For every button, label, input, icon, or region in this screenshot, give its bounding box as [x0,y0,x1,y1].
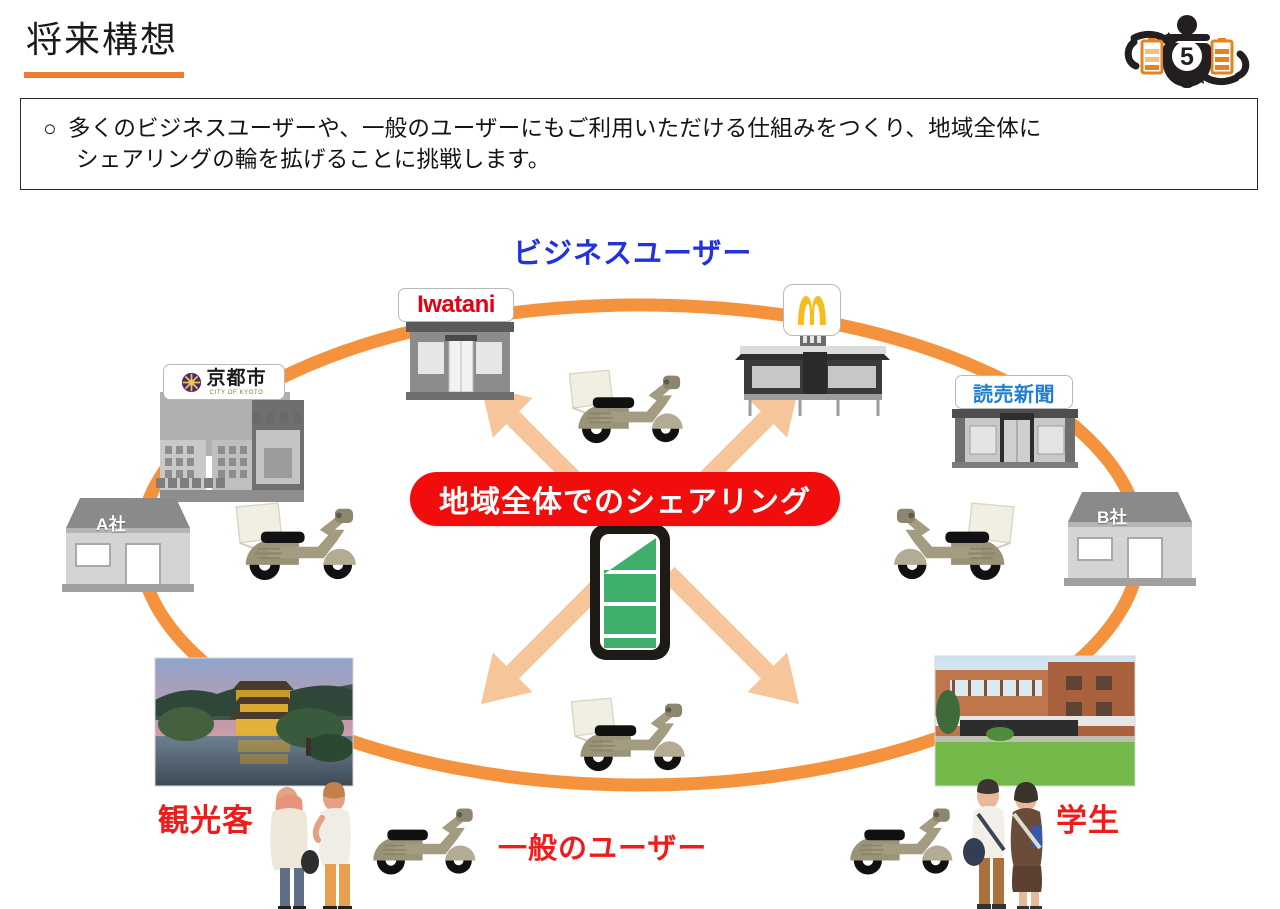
photo-kinkakuji [155,658,354,786]
center-banner: 地域全体でのシェアリング [410,472,840,526]
caption-business-users: ビジネスユーザー [513,230,752,272]
lead-line-1: ○多くのビジネスユーザーや、一般のユーザーにもご利用いただける仕組みをつくり、地… [43,113,1233,144]
node-kyoto-city-building [156,392,304,502]
lead-line-1-text: 多くのビジネスユーザーや、一般のユーザーにもご利用いただける仕組みをつくり、地域… [68,116,1042,141]
sign-iwatani-label: Iwatani [417,291,495,319]
diagram-canvas: Iwatani 京都市 CITY OF KYOTO [0,200,1280,909]
photo-campus [935,656,1135,786]
sign-mcdonalds [783,284,841,336]
center-banner-label: 地域全体でのシェアリング [439,477,811,521]
scooter-bottom-center [571,698,684,771]
sign-kyoto-sublabel: CITY OF KYOTO [210,390,264,396]
kyoto-city-crest-icon [181,372,202,393]
page-title: 将来構想 [26,22,178,58]
sign-iwatani: Iwatani [398,288,514,322]
node-iwatani-building [406,322,514,400]
people-tourists [270,782,352,909]
scooter-top [569,370,682,443]
node-mcdonalds-building [735,330,890,416]
slide-root: 将来構想 [0,0,1280,909]
sign-yomiuri-label: 読売新聞 [973,378,1055,407]
scooter-bottom-left [373,809,475,875]
scooter-left [236,503,356,580]
title-underline [24,72,184,78]
scooter-battery-swap-logo: 5 [1112,8,1262,90]
people-students [963,779,1043,909]
label-company-a: A社 [96,510,126,535]
battery-left-icon [1142,38,1162,73]
bullet-marker: ○ [43,113,68,144]
node-company-b-building [1064,492,1196,586]
lead-textbox: ○多くのビジネスユーザーや、一般のユーザーにもご利用いただける仕組みをつくり、地… [20,98,1258,190]
label-company-b: B社 [1097,503,1127,528]
scooter-bottom-right [850,809,952,875]
lead-line-2: シェアリングの輪を拡げることに挑戦します。 [43,144,1233,175]
logo-badge-number: 5 [1180,43,1194,71]
scooter-right [894,503,1014,580]
sign-kyoto-city: 京都市 CITY OF KYOTO [163,364,285,400]
node-yomiuri-building [952,409,1078,468]
node-company-a-building [62,498,194,592]
golden-arches-icon [792,292,832,328]
battery-icon [590,514,670,660]
caption-tourists: 観光客 [158,795,254,840]
sign-yomiuri: 読売新聞 [955,375,1073,409]
battery-right-icon [1212,38,1232,73]
sign-kyoto-label: 京都市 [206,369,266,388]
caption-general-users: 一般のユーザー [498,825,707,867]
caption-students: 学生 [1056,795,1120,840]
